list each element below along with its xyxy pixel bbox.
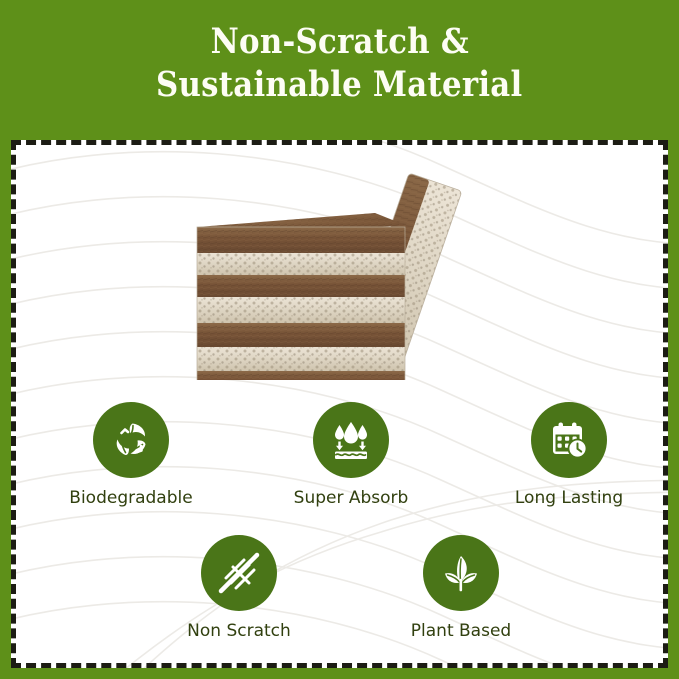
fork-no-scratch-icon <box>213 547 265 599</box>
feature-non-scratch: Non Scratch <box>164 535 314 641</box>
feature-icon-circle <box>201 535 277 611</box>
feature-biodegradable: Biodegradable <box>56 402 206 508</box>
feature-label: Plant Based <box>411 622 511 641</box>
product-image-sponges <box>161 165 581 380</box>
header-title-line-2: Sustainable Material <box>156 64 523 107</box>
content-panel: Biodegradable Super Absorb <box>11 140 668 668</box>
feature-super-absorb: Super Absorb <box>276 402 426 508</box>
feature-label: Long Lasting <box>515 489 623 508</box>
feature-plant-based: Plant Based <box>386 535 536 641</box>
header-banner: Non-Scratch & Sustainable Material <box>0 0 679 134</box>
feature-icon-circle <box>93 402 169 478</box>
product-infographic: Non-Scratch & Sustainable Material <box>0 0 679 679</box>
feature-label: Non Scratch <box>187 622 291 641</box>
feature-icon-circle <box>531 402 607 478</box>
header-title-line-1: Non-Scratch & <box>210 21 468 64</box>
water-droplets-absorb-icon <box>327 416 375 464</box>
sprout-leaves-icon <box>437 549 485 597</box>
recycle-leaves-icon <box>107 416 155 464</box>
feature-label: Biodegradable <box>69 489 192 508</box>
feature-long-lasting: Long Lasting <box>494 402 644 508</box>
feature-icon-circle <box>313 402 389 478</box>
feature-label: Super Absorb <box>294 489 409 508</box>
feature-icon-circle <box>423 535 499 611</box>
calendar-clock-icon <box>545 416 593 464</box>
